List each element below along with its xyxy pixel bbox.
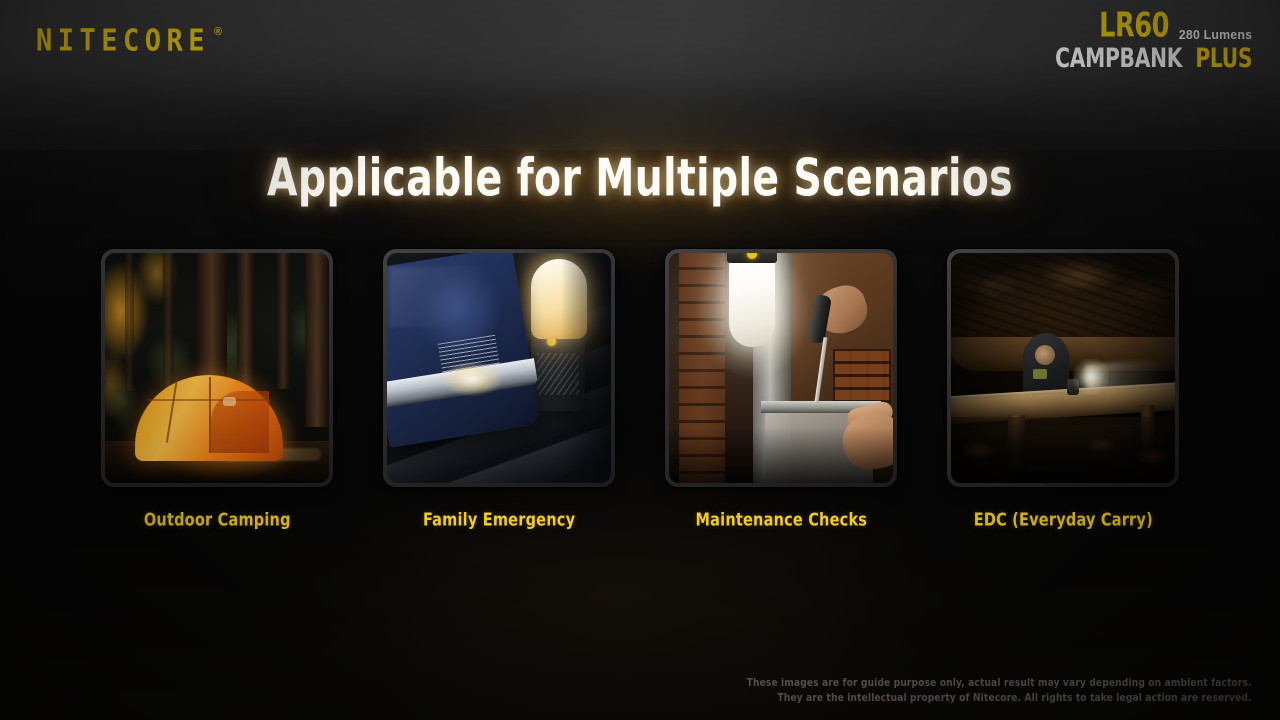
scenario-label-family-emergency: Family Emergency — [423, 509, 575, 530]
product-series: CAMPBANK — [1055, 45, 1182, 72]
scenario-card-edc[interactable]: EDC (Everyday Carry) — [947, 249, 1179, 539]
legal-disclaimer: These images are for guide purpose only,… — [747, 676, 1252, 706]
photo-family-emergency — [387, 253, 611, 483]
scenario-card-family-emergency[interactable]: Family Emergency — [383, 249, 615, 539]
scenario-photo-frame[interactable] — [383, 249, 615, 487]
product-model: LR60 — [1099, 10, 1169, 43]
product-name-row-bottom: CAMPBANK PLUS — [1041, 46, 1252, 71]
slide-canvas: NITECORE ® LR60 280 Lumens CAMPBANK PLUS… — [0, 0, 1280, 720]
photo-maintenance-checks — [669, 253, 893, 483]
brand-wordmark: NITECORE — [36, 26, 210, 56]
product-name-row-top: LR60 280 Lumens — [1041, 12, 1252, 43]
photo-outdoor-camping — [105, 253, 329, 483]
scenario-label-maintenance-checks: Maintenance Checks — [695, 509, 867, 530]
disclaimer-line-1: These images are for guide purpose only,… — [747, 676, 1252, 691]
scenario-card-outdoor-camping[interactable]: Outdoor Camping — [101, 249, 333, 539]
scenario-photo-frame[interactable] — [947, 249, 1179, 487]
scenario-gallery: Outdoor Camping — [101, 249, 1179, 539]
scenario-card-maintenance-checks[interactable]: Maintenance Checks — [665, 249, 897, 539]
product-name-block: LR60 280 Lumens CAMPBANK PLUS — [1041, 12, 1252, 71]
registered-trademark-icon: ® — [214, 27, 222, 38]
product-lumens: 280 Lumens — [1179, 28, 1252, 43]
photo-edc-everyday-carry — [951, 253, 1175, 483]
scenario-label-edc: EDC (Everyday Carry) — [973, 509, 1152, 530]
disclaimer-line-2: They are the intellectual property of Ni… — [747, 691, 1252, 706]
scenario-photo-frame[interactable] — [665, 249, 897, 487]
nitecore-brand-logo: NITECORE ® — [36, 26, 222, 53]
scenario-photo-frame[interactable] — [101, 249, 333, 487]
scenario-label-outdoor-camping: Outdoor Camping — [144, 509, 291, 530]
page-title: Applicable for Multiple Scenarios — [45, 148, 1235, 209]
product-variant: PLUS — [1195, 45, 1252, 72]
